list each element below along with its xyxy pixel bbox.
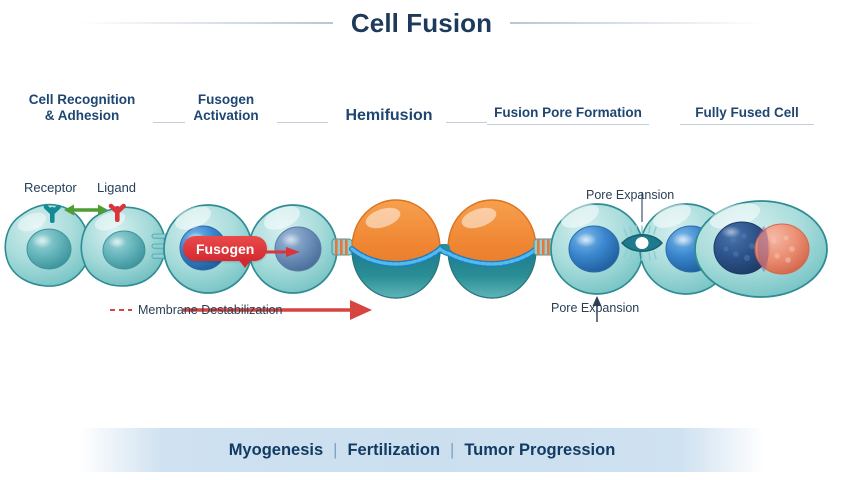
- title-rule-right: [510, 22, 765, 24]
- stage-line: Fusion Pore Formation: [487, 105, 649, 121]
- stage-label-hemifusion: Hemifusion: [334, 106, 444, 126]
- footer-text: Myogenesis | Fertilization | Tumor Progr…: [229, 441, 616, 460]
- stage-rule-3: [446, 122, 487, 123]
- membrane-destabilization-annotation: Membrane Destabilization: [110, 301, 283, 319]
- footer-item-tumor-progression: Tumor Progression: [464, 441, 615, 460]
- stage-rule-4: [487, 124, 649, 125]
- footer-item-myogenesis: Myogenesis: [229, 441, 323, 460]
- ligand-label: Ligand: [97, 180, 136, 195]
- page-title: Cell Fusion: [333, 8, 510, 39]
- title-bar: Cell Fusion: [0, 0, 843, 46]
- hemifusion-cell-left: [352, 200, 440, 298]
- stage-line: Hemifusion: [334, 106, 444, 126]
- stage-line: Fusogen: [178, 92, 274, 108]
- stage-label-fully-fused-cell: Fully Fused Cell: [680, 105, 814, 121]
- cell-1-recognition: [5, 204, 89, 286]
- stage-rule-5: [680, 124, 814, 125]
- pore-expansion-top-label: Pore Expansion: [586, 188, 674, 202]
- footer-separator: |: [450, 441, 454, 460]
- stage-line: Activation: [178, 108, 274, 124]
- receptor-label: Receptor: [24, 180, 77, 195]
- stage-label-row: Cell Recognition & Adhesion Fusogen Acti…: [0, 88, 843, 134]
- membrane-junction-1: [332, 239, 352, 255]
- stage-line: Fully Fused Cell: [680, 105, 814, 121]
- fusogen-label: Fusogen: [196, 241, 254, 257]
- footer-separator: |: [333, 441, 337, 460]
- stage-label-cell-recognition: Cell Recognition & Adhesion: [12, 92, 152, 125]
- stage-line: Cell Recognition: [12, 92, 152, 108]
- stage-label-fusogen-activation: Fusogen Activation: [178, 92, 274, 125]
- fusogen-badge: Fusogen: [183, 236, 267, 261]
- stage-line: & Adhesion: [12, 108, 152, 124]
- footer-item-fertilization: Fertilization: [347, 441, 440, 460]
- fusogen-arrow: [258, 244, 300, 254]
- hemifusion-cell-right: [448, 200, 536, 298]
- dashed-line-icon: [110, 309, 132, 311]
- fusogen-badge-tail: [238, 259, 252, 268]
- stage-label-fusion-pore-formation: Fusion Pore Formation: [487, 105, 649, 121]
- stage-rule-2: [277, 122, 328, 123]
- membrane-destabilization-label: Membrane Destabilization: [138, 303, 283, 317]
- pore-expansion-bottom-label: Pore Expansion: [551, 301, 639, 315]
- title-rule-left: [78, 22, 333, 24]
- footer-band: Myogenesis | Fertilization | Tumor Progr…: [80, 428, 764, 472]
